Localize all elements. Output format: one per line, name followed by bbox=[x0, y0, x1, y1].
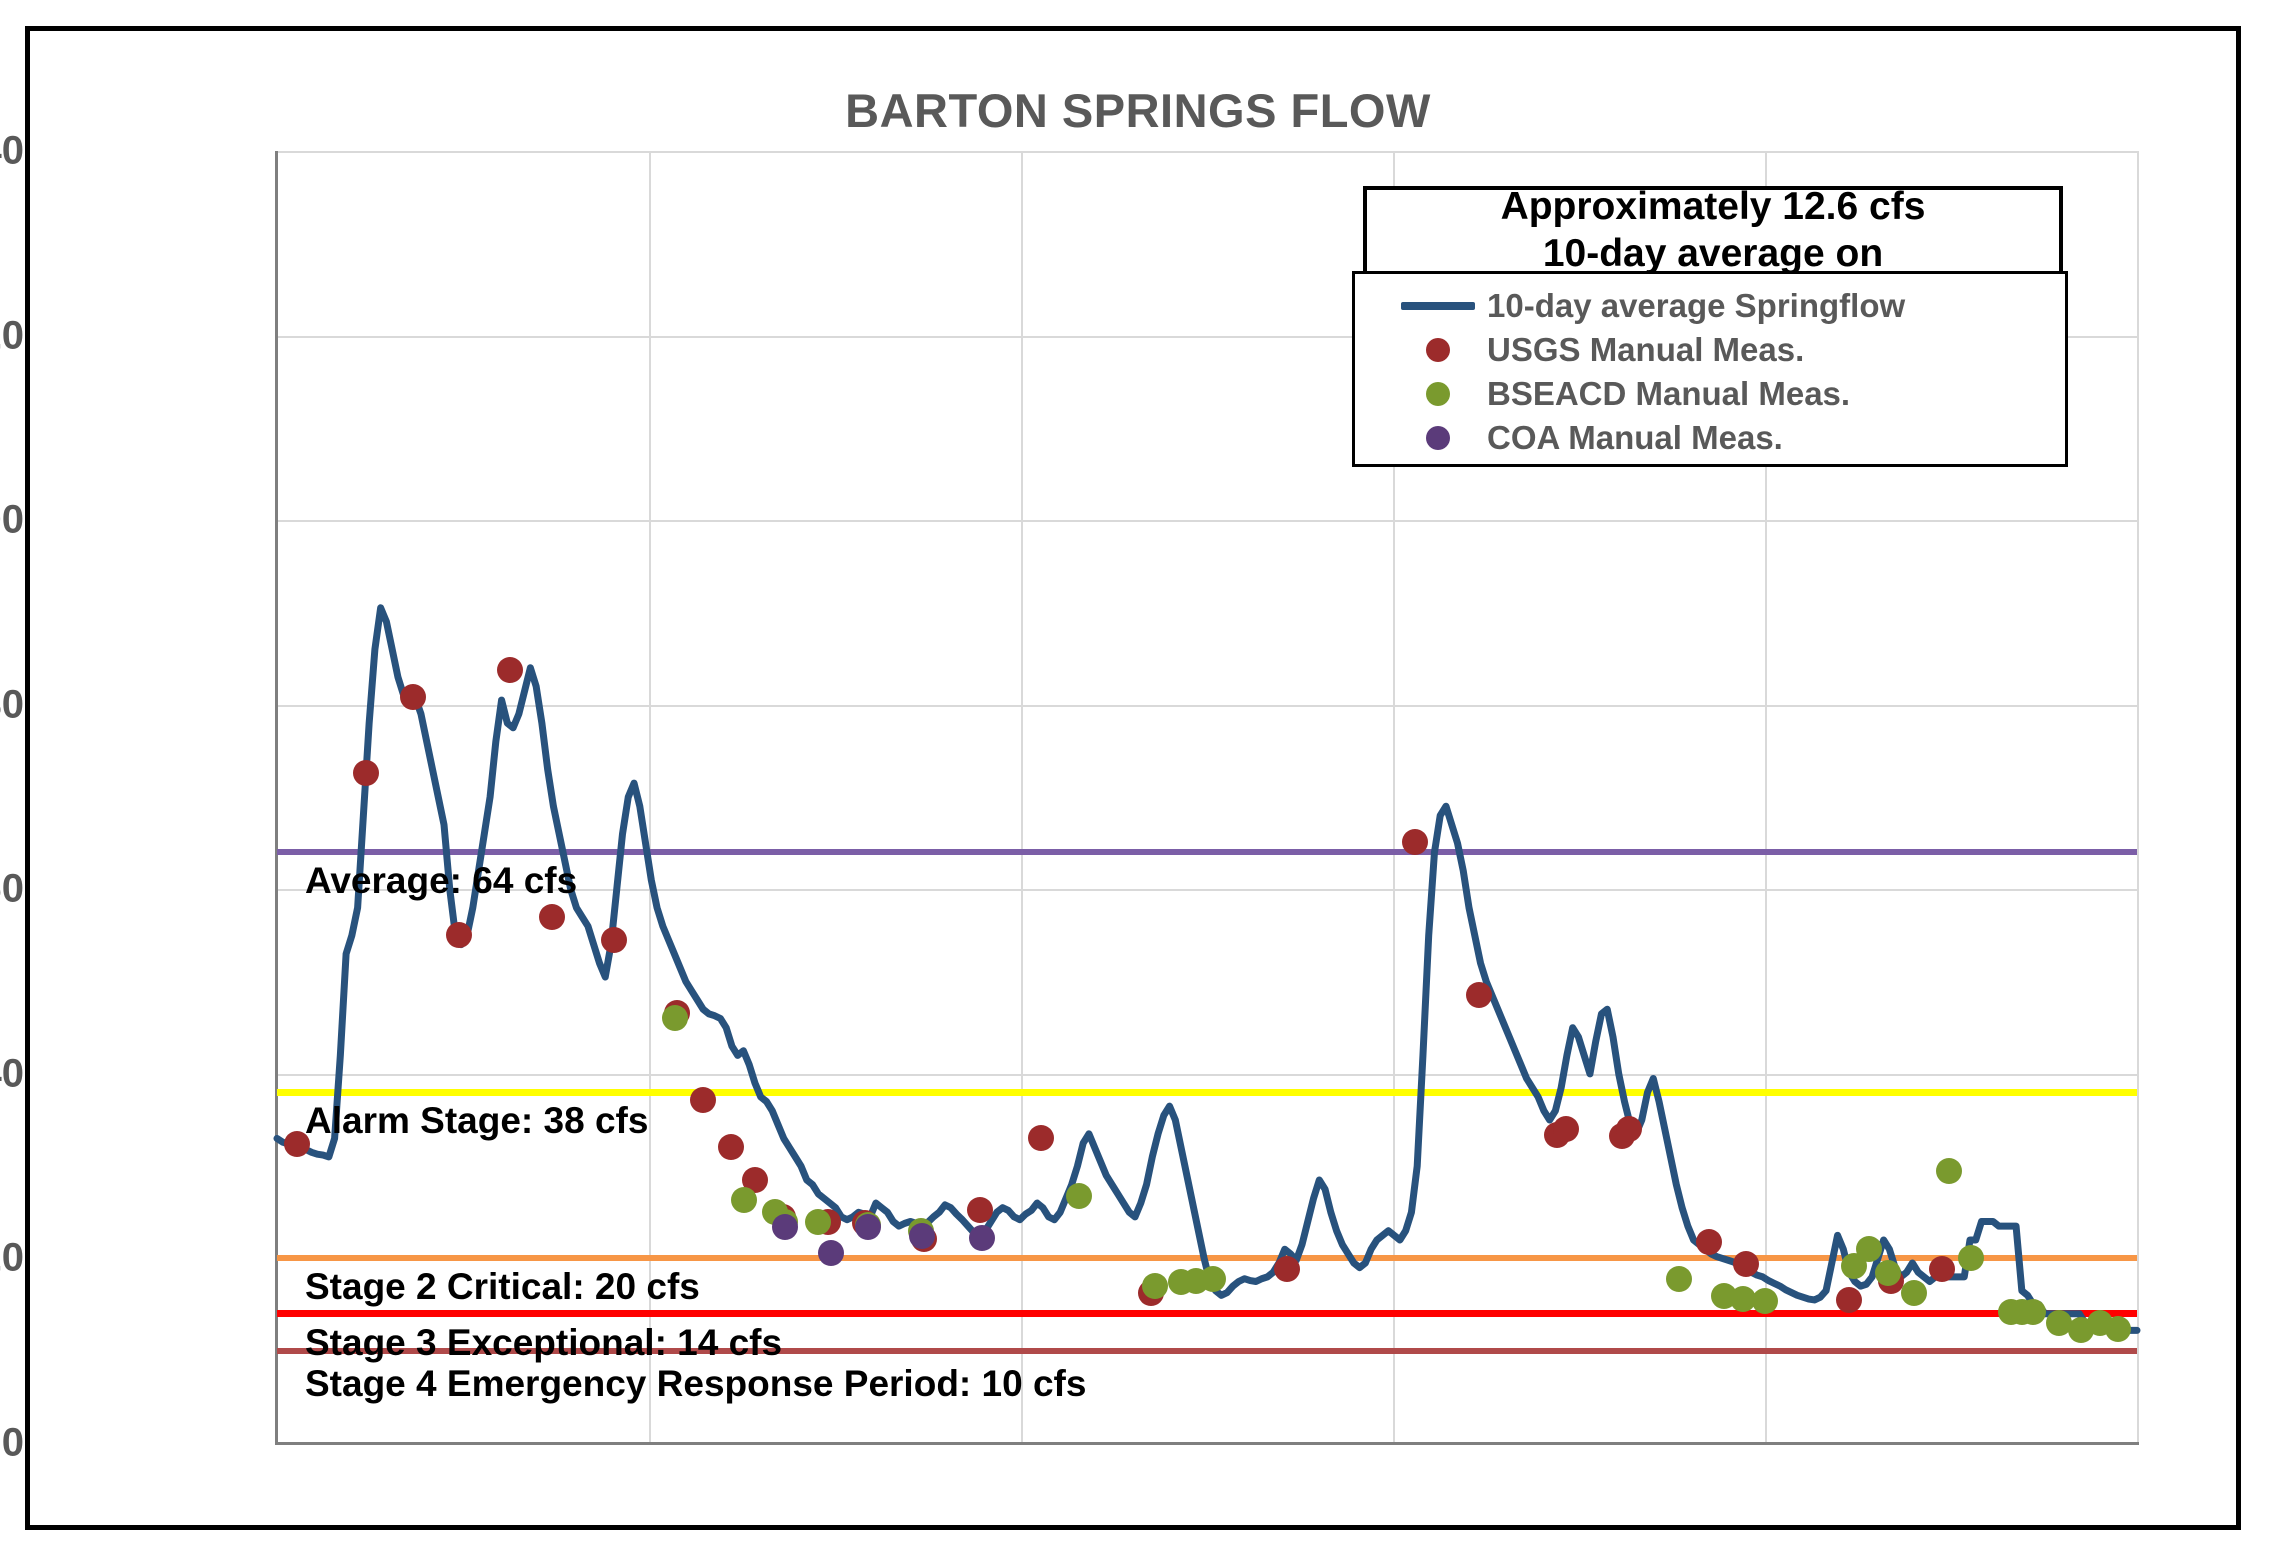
bseacd-measurement-dot bbox=[1066, 1183, 1092, 1209]
chart-frame: BARTON SPRINGS FLOW Discharge (cfs) Aver… bbox=[25, 26, 2241, 1530]
bseacd-measurement-dot bbox=[1901, 1280, 1927, 1306]
springflow-polyline bbox=[277, 608, 2137, 1331]
legend-label: 10-day average Springflow bbox=[1487, 287, 1905, 325]
annotation-line-1: Approximately 12.6 cfs bbox=[1501, 184, 1926, 230]
usgs-measurement-dot bbox=[1733, 1251, 1759, 1277]
bseacd-measurement-dot bbox=[662, 1005, 688, 1031]
y-tick-label: 100 bbox=[0, 498, 24, 543]
chart-title: BARTON SPRINGS FLOW bbox=[30, 83, 2246, 138]
chart-legend: 10-day average SpringflowUSGS Manual Mea… bbox=[1352, 271, 2068, 467]
bseacd-measurement-dot bbox=[805, 1209, 831, 1235]
annotation-line-2: 10-day average on bbox=[1543, 231, 1883, 277]
legend-item[interactable]: COA Manual Meas. bbox=[1395, 416, 2065, 460]
legend-marker-dot bbox=[1395, 382, 1481, 406]
usgs-measurement-dot bbox=[539, 904, 565, 930]
y-tick-label: 20 bbox=[0, 1236, 24, 1281]
usgs-measurement-dot bbox=[1402, 829, 1428, 855]
usgs-measurement-dot bbox=[967, 1197, 993, 1223]
bseacd-measurement-dot bbox=[1958, 1245, 1984, 1271]
coa-measurement-dot bbox=[909, 1223, 935, 1249]
usgs-measurement-dot bbox=[1274, 1256, 1300, 1282]
usgs-measurement-dot bbox=[1616, 1116, 1642, 1142]
bseacd-measurement-dot bbox=[1936, 1158, 1962, 1184]
legend-marker-dot bbox=[1395, 338, 1481, 362]
gridline-vertical bbox=[2137, 151, 2139, 1443]
usgs-measurement-dot bbox=[1929, 1256, 1955, 1282]
usgs-measurement-dot bbox=[718, 1134, 744, 1160]
coa-measurement-dot bbox=[969, 1225, 995, 1251]
usgs-measurement-dot bbox=[601, 927, 627, 953]
threshold-label: Stage 2 Critical: 20 cfs bbox=[305, 1266, 700, 1308]
y-tick-label: 40 bbox=[0, 1051, 24, 1096]
usgs-measurement-dot bbox=[1553, 1116, 1579, 1142]
bseacd-measurement-dot bbox=[1142, 1273, 1168, 1299]
y-tick-label: 60 bbox=[0, 867, 24, 912]
y-tick-label: 140 bbox=[0, 129, 24, 174]
threshold-label: Average: 64 cfs bbox=[305, 860, 577, 902]
legend-marker-dot bbox=[1395, 426, 1481, 450]
usgs-measurement-dot bbox=[353, 760, 379, 786]
usgs-measurement-dot bbox=[1466, 982, 1492, 1008]
usgs-measurement-dot bbox=[446, 922, 472, 948]
legend-label: USGS Manual Meas. bbox=[1487, 331, 1804, 369]
legend-item[interactable]: BSEACD Manual Meas. bbox=[1395, 372, 2065, 416]
legend-line-swatch bbox=[1401, 302, 1475, 310]
bseacd-measurement-dot bbox=[2105, 1316, 2131, 1342]
bseacd-measurement-dot bbox=[1666, 1266, 1692, 1292]
legend-marker-line bbox=[1395, 302, 1481, 310]
legend-dot-swatch bbox=[1426, 338, 1450, 362]
usgs-measurement-dot bbox=[1696, 1229, 1722, 1255]
coa-measurement-dot bbox=[818, 1240, 844, 1266]
threshold-label: Stage 3 Exceptional: 14 cfs bbox=[305, 1322, 782, 1364]
bseacd-measurement-dot bbox=[2020, 1299, 2046, 1325]
bseacd-measurement-dot bbox=[1200, 1266, 1226, 1292]
chart-page: BARTON SPRINGS FLOW Discharge (cfs) Aver… bbox=[0, 0, 2270, 1557]
legend-dot-swatch bbox=[1426, 382, 1450, 406]
usgs-measurement-dot bbox=[1836, 1287, 1862, 1313]
legend-label: BSEACD Manual Meas. bbox=[1487, 375, 1850, 413]
legend-label: COA Manual Meas. bbox=[1487, 419, 1783, 457]
usgs-measurement-dot bbox=[497, 657, 523, 683]
usgs-measurement-dot bbox=[400, 684, 426, 710]
bseacd-measurement-dot bbox=[731, 1187, 757, 1213]
legend-dot-swatch bbox=[1426, 426, 1450, 450]
usgs-measurement-dot bbox=[690, 1087, 716, 1113]
bseacd-measurement-dot bbox=[1856, 1236, 1882, 1262]
y-tick-label: 80 bbox=[0, 682, 24, 727]
y-tick-label: 0 bbox=[0, 1421, 24, 1466]
legend-item[interactable]: 10-day average Springflow bbox=[1395, 284, 2065, 328]
y-tick-label: 120 bbox=[0, 313, 24, 358]
bseacd-measurement-dot bbox=[1752, 1288, 1778, 1314]
legend-item[interactable]: USGS Manual Meas. bbox=[1395, 328, 2065, 372]
threshold-label: Alarm Stage: 38 cfs bbox=[305, 1100, 648, 1142]
coa-measurement-dot bbox=[772, 1214, 798, 1240]
bseacd-measurement-dot bbox=[1875, 1260, 1901, 1286]
usgs-measurement-dot bbox=[1028, 1125, 1054, 1151]
threshold-label: Stage 4 Emergency Response Period: 10 cf… bbox=[305, 1363, 1086, 1405]
coa-measurement-dot bbox=[855, 1214, 881, 1240]
